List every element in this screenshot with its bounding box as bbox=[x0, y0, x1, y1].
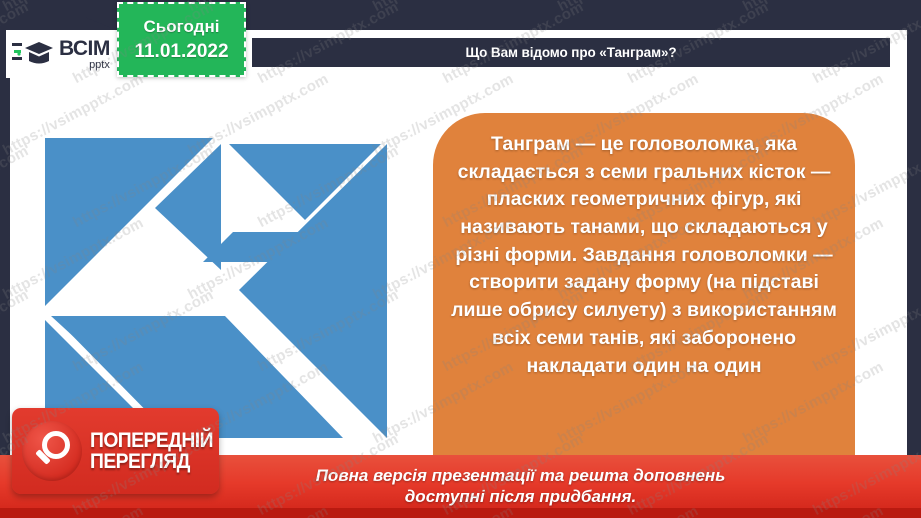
content-text-panel: Танграм — це головоломка, яка складаєтьс… bbox=[433, 113, 855, 473]
slide-header-bar: Що Вам відомо про «Танграм»? bbox=[252, 38, 890, 67]
watermark-text: https://vsimpptx.com bbox=[740, 0, 886, 15]
brand-logo[interactable]: ВСІМ pptx bbox=[6, 30, 122, 78]
preview-badge[interactable]: ПОПЕРЕДНІЙ ПЕРЕГЛЯД bbox=[12, 408, 219, 494]
logo-title: ВСІМ bbox=[59, 38, 110, 59]
preview-badge-line2: ПЕРЕГЛЯД bbox=[90, 451, 213, 472]
slide-canvas: Танграм — це головоломка, яка складаєтьс… bbox=[0, 0, 921, 518]
preview-badge-line1: ПОПЕРЕДНІЙ bbox=[90, 430, 213, 451]
purchase-notice-line2: доступні після придбання. bbox=[405, 487, 636, 507]
watermark-text: https://vsimpptx.com bbox=[555, 0, 701, 15]
logo-subtitle: pptx bbox=[59, 60, 110, 71]
tangram-description-text: Танграм — це головоломка, яка складаєтьс… bbox=[449, 131, 839, 380]
purchase-notice-line1: Повна версія презентації та решта доповн… bbox=[316, 466, 726, 486]
today-date-value: 11.01.2022 bbox=[134, 41, 228, 63]
today-date-badge: Сьогодні 11.01.2022 bbox=[117, 2, 246, 77]
magnifier-icon bbox=[22, 421, 82, 481]
watermark-text: https://vsimpptx.com bbox=[370, 0, 516, 15]
banner-bottom-edge bbox=[0, 508, 921, 518]
graduation-cap-icon bbox=[12, 37, 54, 71]
preview-badge-text: ПОПЕРЕДНІЙ ПЕРЕГЛЯД bbox=[90, 430, 224, 473]
today-label: Сьогодні bbox=[144, 17, 220, 37]
tangram-puzzle-square bbox=[43, 120, 398, 455]
logo-text-block: ВСІМ pptx bbox=[59, 38, 110, 71]
page-title: Що Вам відомо про «Танграм»? bbox=[465, 45, 676, 60]
